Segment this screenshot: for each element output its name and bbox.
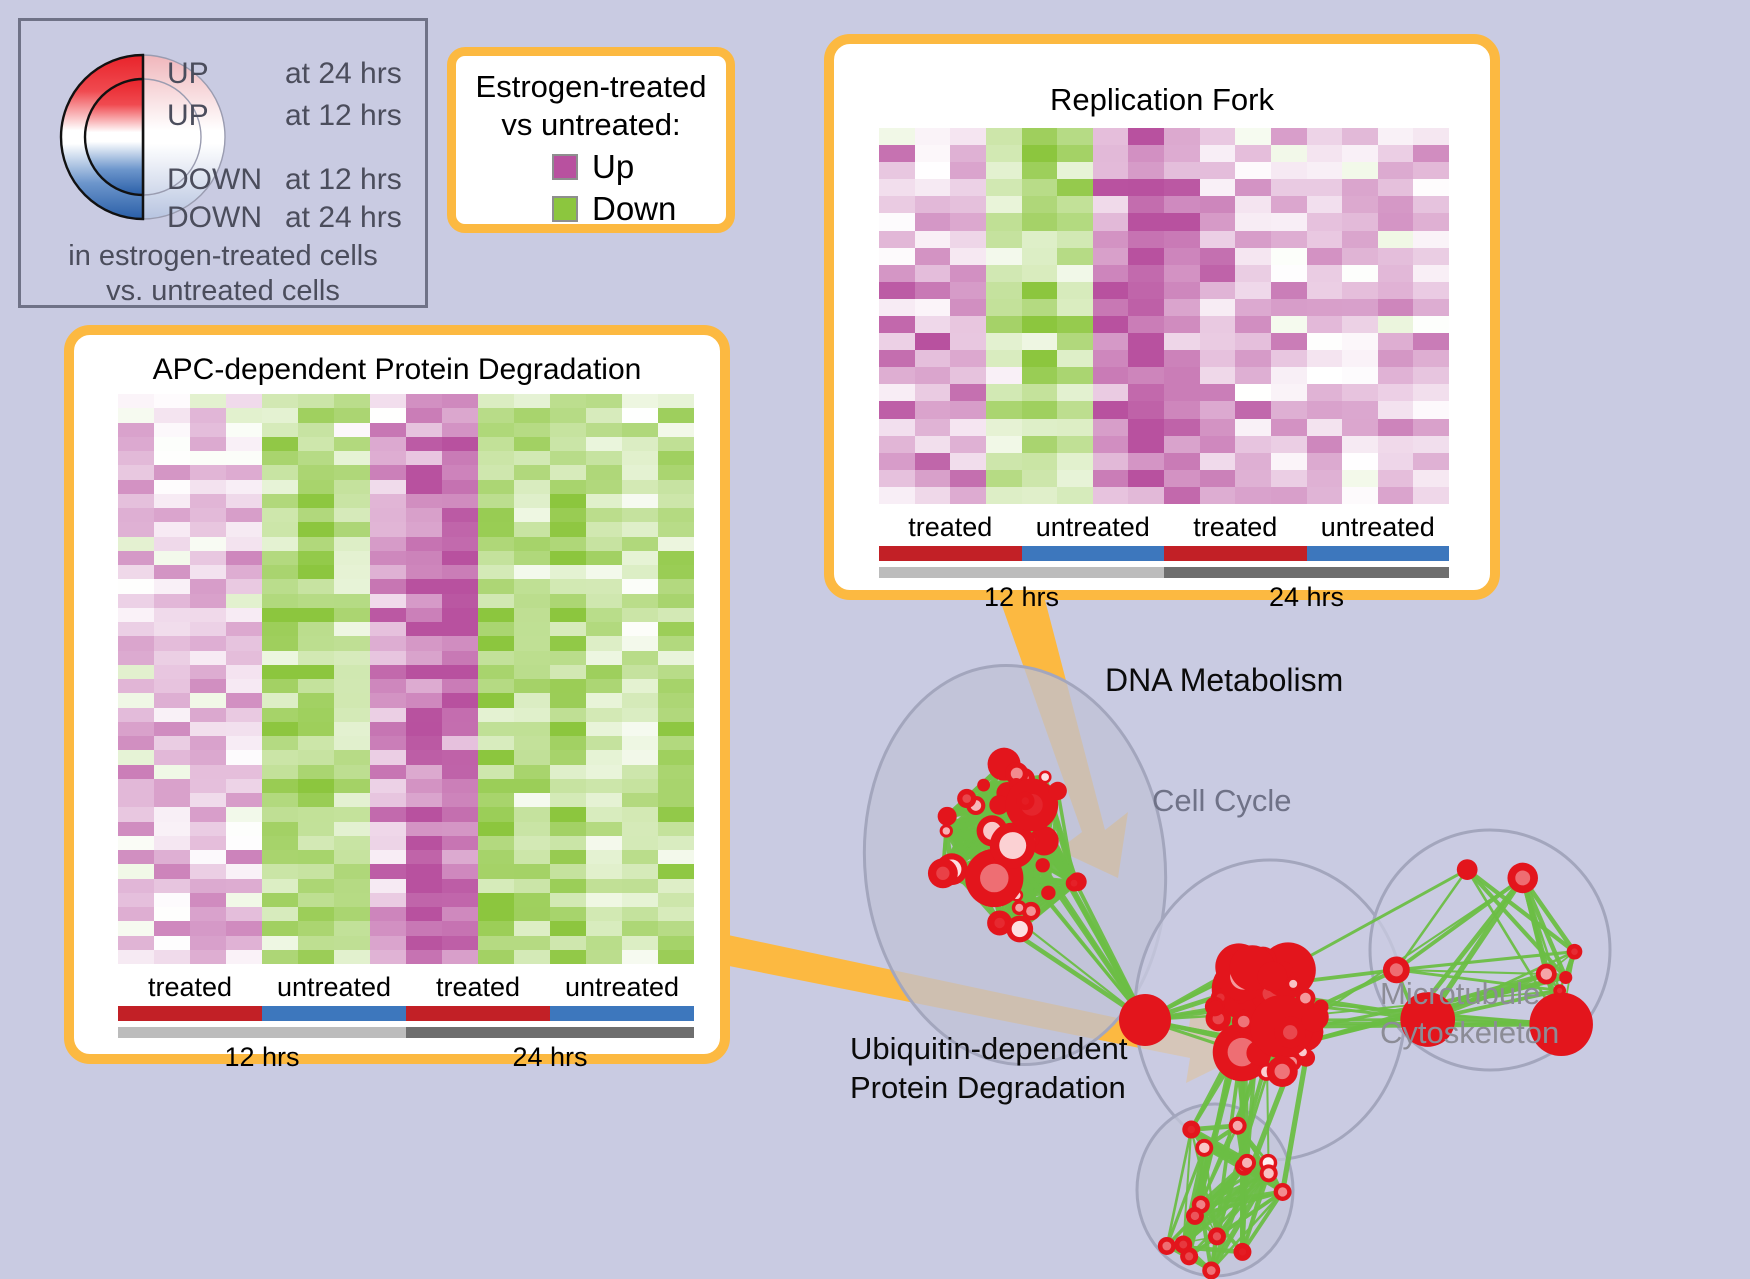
heatmap-cell	[586, 437, 622, 451]
heatmap-cell	[950, 231, 986, 248]
heatmap-cell	[1235, 384, 1271, 401]
heatmap-cell	[950, 248, 986, 265]
heatmap-cell	[118, 736, 154, 750]
heatmap-cell	[950, 367, 986, 384]
heatmap-cell	[262, 565, 298, 579]
heatmap-cell	[1164, 162, 1200, 179]
heatmap-cell	[1200, 145, 1236, 162]
heatmap-cell	[1093, 384, 1129, 401]
heatmap-cell	[442, 850, 478, 864]
heatmap-cell	[1307, 213, 1343, 230]
heatmap-cell	[226, 565, 262, 579]
cluster-label-dna-metabolism: DNA Metabolism	[1105, 662, 1343, 699]
heatmap-cell	[478, 394, 514, 408]
heatmap-cell	[1164, 453, 1200, 470]
heatmap-cell	[226, 480, 262, 494]
heatmap-cell	[406, 608, 442, 622]
heatmap-cell	[986, 265, 1022, 282]
heatmap-cell	[406, 693, 442, 707]
heatmap-cell	[658, 622, 694, 636]
heatmap-cell	[658, 708, 694, 722]
heatmap-cell	[226, 451, 262, 465]
condition-color-bar	[118, 1006, 694, 1021]
heatmap-cell	[658, 864, 694, 878]
heatmap-cell	[1022, 316, 1058, 333]
heatmap-cell	[442, 722, 478, 736]
heatmap-cell	[950, 128, 986, 145]
heatmap-cell	[370, 451, 406, 465]
heatmap-cell	[118, 565, 154, 579]
heatmap-cell	[298, 651, 334, 665]
heatmap-cell	[622, 594, 658, 608]
heatmap-cell	[478, 565, 514, 579]
heatmap-cell	[190, 651, 226, 665]
heatmap-cell	[298, 522, 334, 536]
key-label: UP	[167, 99, 285, 133]
heatmap-cell	[986, 248, 1022, 265]
heatmap-cell	[118, 950, 154, 964]
heatmap-cell	[1235, 299, 1271, 316]
heatmap-cell	[226, 522, 262, 536]
heatmap-cell	[1271, 265, 1307, 282]
heatmap-cell	[1022, 487, 1058, 504]
heatmap-cell	[298, 864, 334, 878]
heatmap-cell	[1342, 401, 1378, 418]
heatmap-cell	[514, 579, 550, 593]
heatmap-cell	[226, 736, 262, 750]
heatmap-cell	[478, 665, 514, 679]
heatmap-cell	[406, 936, 442, 950]
heatmap-cell	[879, 213, 915, 230]
heatmap-cell	[1378, 470, 1414, 487]
network-node[interactable]	[1036, 858, 1050, 872]
heatmap-cell	[298, 679, 334, 693]
microtubule-line1: Microtubule	[1380, 975, 1559, 1014]
heatmap-cell	[334, 907, 370, 921]
heatmap-cell	[1128, 470, 1164, 487]
heatmap-cell	[622, 579, 658, 593]
heatmap-cell	[1164, 265, 1200, 282]
heatmap-cell	[586, 508, 622, 522]
heatmap-cell	[1200, 401, 1236, 418]
heatmap-cell	[226, 793, 262, 807]
heatmap-cell	[622, 765, 658, 779]
heatmap-cell	[658, 480, 694, 494]
heatmap-cell	[1022, 436, 1058, 453]
heatmap-cell	[1022, 162, 1058, 179]
network-node-core	[1041, 773, 1049, 781]
heatmap-cell	[658, 936, 694, 950]
up-swatch-icon	[552, 154, 578, 180]
heatmap-cell	[406, 708, 442, 722]
heatmap-cell	[1128, 333, 1164, 350]
heatmap-cell	[622, 451, 658, 465]
heatmap-cell	[1235, 282, 1271, 299]
heatmap-cell	[154, 836, 190, 850]
heatmap-cell	[190, 950, 226, 964]
heatmap-cell	[550, 608, 586, 622]
heatmap-cell	[190, 622, 226, 636]
heatmap-cell	[550, 594, 586, 608]
heatmap-cell	[262, 765, 298, 779]
heatmap-cell	[226, 665, 262, 679]
heatmap-cell	[1128, 231, 1164, 248]
heatmap-cell	[550, 950, 586, 964]
heatmap-cell	[879, 487, 915, 504]
heatmap-cell	[1235, 487, 1271, 504]
heatmap-cell	[586, 522, 622, 536]
heatmap-cell	[658, 722, 694, 736]
heatmap-cell	[1235, 436, 1271, 453]
heatmap-cell	[262, 408, 298, 422]
heatmap-cell	[1271, 367, 1307, 384]
heatmap-cell	[915, 316, 951, 333]
heatmap-cell	[586, 394, 622, 408]
heatmap-cell	[442, 579, 478, 593]
heatmap-cell	[334, 822, 370, 836]
network-node-core	[1179, 1241, 1187, 1249]
heatmap-cell	[334, 579, 370, 593]
heatmap-cell	[154, 508, 190, 522]
heatmap-cell	[442, 921, 478, 935]
heatmap-cell	[658, 679, 694, 693]
heatmap-cell	[658, 565, 694, 579]
heatmap-cell	[1057, 196, 1093, 213]
heatmap-cell	[478, 608, 514, 622]
heatmap-cell	[442, 537, 478, 551]
heatmap-cell	[226, 651, 262, 665]
heatmap-cell	[154, 494, 190, 508]
heatmap-cell	[1093, 350, 1129, 367]
heatmap-cell	[514, 864, 550, 878]
heatmap-cell	[442, 636, 478, 650]
heatmap-cell	[298, 921, 334, 935]
heatmap-cell	[154, 936, 190, 950]
heatmap-cell	[478, 950, 514, 964]
heatmap-cell	[1342, 316, 1378, 333]
heatmap-cell	[190, 736, 226, 750]
heatmap-cell	[1057, 248, 1093, 265]
heatmap-cell	[226, 807, 262, 821]
heatmap-cell	[298, 879, 334, 893]
heatmap-cell	[550, 693, 586, 707]
heatmap-cell	[370, 793, 406, 807]
heatmap-cell	[334, 807, 370, 821]
network-node-core	[1242, 1158, 1252, 1168]
heatmap-cell	[1128, 128, 1164, 145]
heatmap-cell	[550, 551, 586, 565]
network-node[interactable]	[1457, 859, 1478, 880]
heatmap-cell	[226, 879, 262, 893]
heatmap-cell	[370, 522, 406, 536]
heatmap-cell	[478, 465, 514, 479]
heatmap-cell	[1022, 401, 1058, 418]
heatmap-cell	[1022, 282, 1058, 299]
heatmap-cell	[478, 750, 514, 764]
heatmap-cell	[658, 494, 694, 508]
network-node[interactable]	[1302, 1008, 1326, 1032]
network-node-core	[1283, 1025, 1297, 1039]
heatmap-cell	[622, 608, 658, 622]
heatmap-cell	[915, 367, 951, 384]
heatmap-cell	[915, 453, 951, 470]
heatmap-cell	[879, 350, 915, 367]
heatmap-cell	[478, 807, 514, 821]
heatmap-cell	[658, 765, 694, 779]
heatmap-cell	[1200, 231, 1236, 248]
time-label-12: 12 hrs	[879, 582, 1164, 613]
heatmap-cell	[950, 213, 986, 230]
network-node[interactable]	[1041, 886, 1055, 900]
heatmap-cell	[879, 282, 915, 299]
heatmap-cell	[1022, 453, 1058, 470]
heatmap-cell	[478, 594, 514, 608]
heatmap-cell	[1164, 196, 1200, 213]
heatmap-cell	[262, 693, 298, 707]
network-node[interactable]	[1208, 1000, 1223, 1015]
heatmap-cell	[118, 750, 154, 764]
heatmap-cell	[262, 508, 298, 522]
heatmap-cell	[442, 408, 478, 422]
heatmap-cell	[154, 950, 190, 964]
heatmap-cell	[478, 522, 514, 536]
heatmap-cell	[298, 579, 334, 593]
heatmap-cell	[226, 779, 262, 793]
heatmap-cell	[915, 128, 951, 145]
heatmap-cell	[298, 423, 334, 437]
heatmap-cell	[298, 608, 334, 622]
heatmap-cell	[154, 394, 190, 408]
heatmap-cell	[950, 162, 986, 179]
heatmap-cell	[478, 907, 514, 921]
heatmap-cell	[950, 470, 986, 487]
heatmap-cell	[986, 213, 1022, 230]
heatmap-cell	[298, 480, 334, 494]
heatmap-cell	[550, 537, 586, 551]
heatmap-cell	[442, 836, 478, 850]
figure-canvas: UPat 24 hrs UPat 12 hrs DOWNat 12 hrs DO…	[0, 0, 1750, 1279]
heatmap-cell	[1093, 128, 1129, 145]
heatmap-cell	[1307, 162, 1343, 179]
heatmap-cell	[154, 793, 190, 807]
network-node[interactable]	[1559, 971, 1572, 984]
heatmap-cell	[986, 384, 1022, 401]
heatmap-cell	[406, 622, 442, 636]
heatmap-cell	[370, 579, 406, 593]
heatmap-cell	[298, 850, 334, 864]
heatmap-cell	[370, 879, 406, 893]
heatmap-cell	[986, 419, 1022, 436]
heatmap-cell	[442, 494, 478, 508]
heatmap-cell	[1093, 145, 1129, 162]
heatmap-cell	[190, 522, 226, 536]
heatmap-cell	[334, 465, 370, 479]
heatmap-cell	[262, 537, 298, 551]
heatmap-cell	[370, 437, 406, 451]
heatmap-cell	[406, 679, 442, 693]
heatmap-cell	[1200, 367, 1236, 384]
heatmap-cell	[586, 850, 622, 864]
heatmap-cell	[1022, 367, 1058, 384]
heatmap-cell	[658, 921, 694, 935]
heatmap-replication-fork	[879, 128, 1449, 504]
network-node[interactable]	[1258, 962, 1288, 992]
heatmap-cell	[550, 779, 586, 793]
heatmap-cell	[950, 401, 986, 418]
heatmap-cell	[118, 864, 154, 878]
heatmap-cell	[1235, 453, 1271, 470]
network-node[interactable]	[1049, 782, 1067, 800]
heatmap-cell	[514, 480, 550, 494]
heatmap-cell	[1093, 265, 1129, 282]
heatmap-cell	[1342, 487, 1378, 504]
heatmap-cell	[986, 367, 1022, 384]
heatmap-cell	[950, 196, 986, 213]
heatmap-apc-degradation	[118, 394, 694, 964]
heatmap-cell	[879, 231, 915, 248]
panel-apc-degradation: APC-dependent Protein Degradation treate…	[64, 325, 730, 1064]
heatmap-cell	[370, 736, 406, 750]
heatmap-cell	[370, 537, 406, 551]
network-node[interactable]	[977, 779, 990, 792]
heatmap-cell	[442, 708, 478, 722]
heatmap-cell	[370, 864, 406, 878]
time-label-24: 24 hrs	[1164, 582, 1449, 613]
network-node[interactable]	[938, 807, 957, 826]
heatmap-cell	[950, 299, 986, 316]
heatmap-cell	[1235, 162, 1271, 179]
heatmap-cell	[1022, 128, 1058, 145]
heatmap-cell	[879, 162, 915, 179]
heatmap-cell	[1271, 282, 1307, 299]
heatmap-cell	[1413, 145, 1449, 162]
heatmap-cell	[550, 893, 586, 907]
heatmap-cell	[334, 708, 370, 722]
heatmap-cell	[118, 765, 154, 779]
heatmap-cell	[879, 128, 915, 145]
heatmap-cell	[1413, 350, 1449, 367]
heatmap-cell	[1164, 145, 1200, 162]
heatmap-cell	[298, 893, 334, 907]
heatmap-cell	[190, 508, 226, 522]
heatmap-cell	[118, 608, 154, 622]
heatmap-cell	[406, 850, 442, 864]
axis-replication-fork: treated untreated treated untreated 12 h…	[879, 512, 1449, 613]
heatmap-cell	[370, 850, 406, 864]
heatmap-cell	[658, 907, 694, 921]
heatmap-cell	[478, 708, 514, 722]
heatmap-cell	[154, 765, 190, 779]
heatmap-cell	[406, 579, 442, 593]
heatmap-cell	[1307, 128, 1343, 145]
heatmap-cell	[334, 921, 370, 935]
heatmap-cell	[334, 850, 370, 864]
heatmap-cell	[514, 665, 550, 679]
heatmap-cell	[226, 437, 262, 451]
heatmap-cell	[1307, 350, 1343, 367]
heatmap-cell	[1128, 248, 1164, 265]
heatmap-cell	[1022, 179, 1058, 196]
heatmap-cell	[1342, 350, 1378, 367]
heatmap-cell	[514, 494, 550, 508]
heatmap-cell	[1378, 487, 1414, 504]
heatmap-cell	[154, 608, 190, 622]
heatmap-cell	[154, 636, 190, 650]
heatmap-cell	[1022, 333, 1058, 350]
heatmap-cell	[370, 551, 406, 565]
heatmap-cell	[1378, 162, 1414, 179]
heatmap-cell	[1093, 299, 1129, 316]
heatmap-cell	[226, 636, 262, 650]
heatmap-cell	[334, 537, 370, 551]
heatmap-cell	[370, 765, 406, 779]
heatmap-cell	[514, 537, 550, 551]
heatmap-cell	[1022, 213, 1058, 230]
heatmap-cell	[406, 893, 442, 907]
heatmap-cell	[1378, 282, 1414, 299]
heatmap-cell	[370, 921, 406, 935]
heatmap-cell	[1057, 128, 1093, 145]
heatmap-cell	[1093, 487, 1129, 504]
heatmap-cell	[915, 282, 951, 299]
heatmap-cell	[1200, 213, 1236, 230]
heatmap-cell	[550, 879, 586, 893]
heatmap-cell	[406, 879, 442, 893]
heatmap-cell	[1342, 128, 1378, 145]
heatmap-cell	[915, 470, 951, 487]
heatmap-cell	[879, 179, 915, 196]
heatmap-cell	[514, 793, 550, 807]
heatmap-cell	[370, 665, 406, 679]
heatmap-cell	[550, 850, 586, 864]
heatmap-cell	[442, 394, 478, 408]
heatmap-cell	[334, 793, 370, 807]
heatmap-cell	[478, 408, 514, 422]
heatmap-cell	[1164, 248, 1200, 265]
heatmap-cell	[879, 248, 915, 265]
heatmap-cell	[1200, 350, 1236, 367]
heatmap-cell	[1128, 316, 1164, 333]
network-node-core	[943, 827, 950, 834]
heatmap-cell	[442, 437, 478, 451]
heatmap-cell	[1022, 384, 1058, 401]
heatmap-cell	[1307, 299, 1343, 316]
heatmap-cell	[406, 836, 442, 850]
heatmap-cell	[370, 950, 406, 964]
heatmap-cell	[1307, 179, 1343, 196]
heatmap-cell	[1378, 333, 1414, 350]
heatmap-cell	[370, 907, 406, 921]
heatmap-cell	[154, 465, 190, 479]
heatmap-cell	[442, 736, 478, 750]
heatmap-cell	[622, 793, 658, 807]
key-label: UP	[167, 57, 285, 91]
heatmap-cell	[226, 537, 262, 551]
heatmap-cell	[442, 622, 478, 636]
heatmap-cell	[334, 636, 370, 650]
heatmap-cell	[298, 693, 334, 707]
heatmap-cell	[550, 807, 586, 821]
heatmap-cell	[1413, 419, 1449, 436]
heatmap-cell	[586, 451, 622, 465]
heatmap-cell	[586, 893, 622, 907]
heatmap-cell	[586, 822, 622, 836]
heatmap-cell	[622, 622, 658, 636]
heatmap-cell	[370, 651, 406, 665]
heatmap-cell	[1022, 265, 1058, 282]
heatmap-cell	[1307, 231, 1343, 248]
heatmap-cell	[334, 879, 370, 893]
